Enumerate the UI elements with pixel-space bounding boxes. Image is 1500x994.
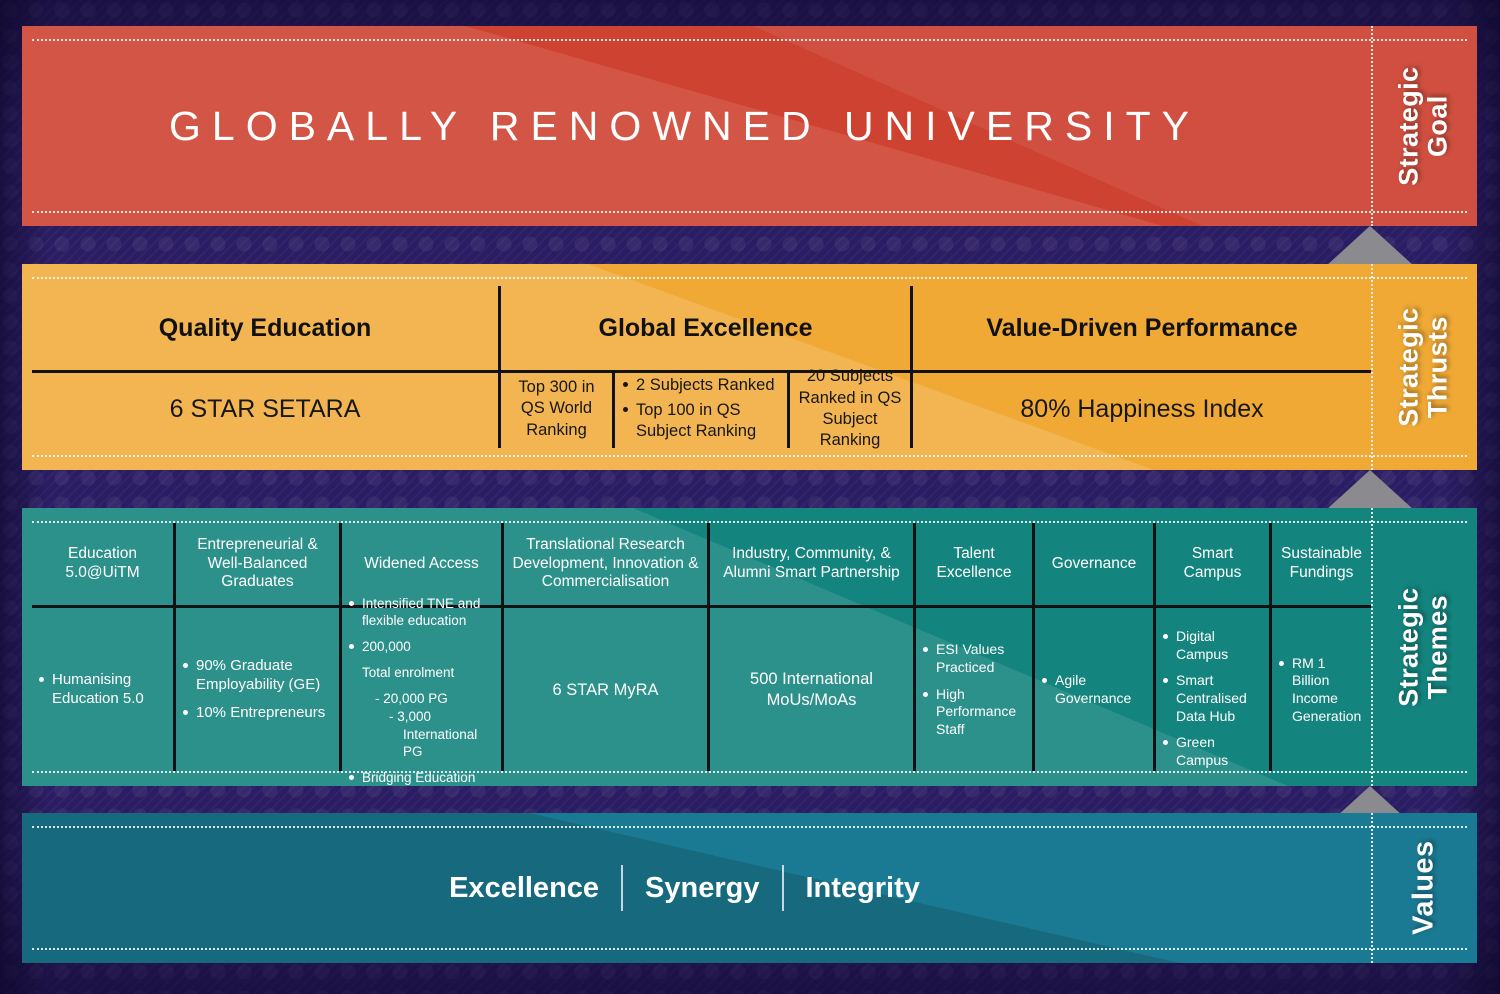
theme-body-widened-access: Intensified TNE and flexible education 2… (342, 605, 501, 771)
theme-item: 90% Graduate Employability (GE) (183, 657, 332, 695)
theme-item: 10% Entrepreneurs (183, 704, 332, 723)
theme-item: Digital Campus (1163, 628, 1262, 663)
theme-item: 200,000 (349, 638, 494, 655)
thrust-kpi-happiness-index: 80% Happiness Index (913, 370, 1371, 448)
thrust-kpi-subjects-ranked: 2 Subjects Ranked Top 100 in QS Subject … (615, 370, 787, 448)
theme-item-list: 90% Graduate Employability (GE) 10% Entr… (183, 648, 332, 732)
goal-side-label: StrategicGoal (1371, 26, 1477, 226)
theme-item-list: Agile Governance (1042, 663, 1146, 716)
thrust-kpi-bullet: Top 100 in QS Subject Ranking (621, 400, 781, 443)
theme-subitem: - 3,000 (349, 708, 494, 725)
theme-header-entrepreneurial: Entrepreneurial & Well-Balanced Graduate… (176, 523, 339, 605)
values-side-label: Values (1371, 813, 1477, 963)
theme-item: Humanising Education 5.0 (39, 671, 166, 709)
thrust-header-global-excellence: Global Excellence (501, 286, 910, 370)
value-item-synergy: Synergy (623, 874, 781, 903)
theme-item: Intensified TNE and flexible education (349, 595, 494, 629)
value-item-integrity: Integrity (784, 874, 942, 903)
theme-header-translational-research: Translational Research Development, Inno… (504, 523, 707, 605)
arrow-themes-to-thrusts (1326, 470, 1414, 510)
theme-body-translational-research: 6 STAR MyRA (504, 605, 707, 771)
theme-item: High Performance Staff (923, 686, 1025, 739)
theme-body-education-50: Humanising Education 5.0 (32, 605, 173, 771)
theme-item: RM 1 Billion Income Generation (1279, 655, 1364, 726)
values-vertical-separator (1371, 813, 1373, 963)
value-item-excellence: Excellence (427, 874, 621, 903)
theme-subitem: International PG (349, 726, 494, 760)
theme-item: Agile Governance (1042, 672, 1146, 707)
thrust-kpi-bullet: 2 Subjects Ranked (621, 375, 781, 396)
theme-item: Bridging Education (349, 769, 494, 786)
strategic-themes-band: Education 5.0@UiTM Humanising Education … (22, 508, 1477, 786)
theme-header-sustainable-fundings: Sustainable Fundings (1272, 523, 1371, 605)
theme-header-smart-campus: Smart Campus (1156, 523, 1269, 605)
thrust-kpi-bullet-list: 2 Subjects Ranked Top 100 in QS Subject … (621, 372, 781, 445)
arrow-thrusts-to-goal (1326, 226, 1414, 266)
thrust-header-value-driven-performance: Value-Driven Performance (913, 286, 1371, 370)
goal-vertical-separator (1371, 26, 1373, 226)
theme-header-talent-excellence: Talent Excellence (916, 523, 1032, 605)
theme-item-list: Intensified TNE and flexible education 2… (349, 586, 494, 787)
theme-item-list: ESI Values Practiced High Performance St… (923, 632, 1025, 747)
thrusts-dashed-bottom (32, 455, 1467, 457)
goal-title: GLOBALLY RENOWNED UNIVERSITY (22, 26, 1347, 226)
strategy-map-canvas: GLOBALLY RENOWNED UNIVERSITY StrategicGo… (0, 0, 1500, 994)
thrusts-grid: Quality Education Global Excellence Valu… (32, 286, 1477, 448)
themes-grid: Education 5.0@UiTM Humanising Education … (32, 523, 1477, 771)
values-list: Excellence Synergy Integrity (22, 813, 1347, 963)
theme-item: Total enrolment (349, 664, 494, 681)
theme-body-smart-campus: Digital Campus Smart Centralised Data Hu… (1156, 605, 1269, 771)
values-side-label-text: Values (1408, 841, 1439, 935)
theme-item: ESI Values Practiced (923, 641, 1025, 676)
strategic-goal-band: GLOBALLY RENOWNED UNIVERSITY StrategicGo… (22, 26, 1477, 226)
theme-body-entrepreneurial: 90% Graduate Employability (GE) 10% Entr… (176, 605, 339, 771)
theme-header-industry-partnership: Industry, Community, & Alumni Smart Part… (710, 523, 913, 605)
theme-body-governance: Agile Governance (1035, 605, 1153, 771)
theme-body-industry-partnership: 500 International MoUs/MoAs (710, 605, 913, 771)
theme-header-governance: Governance (1035, 523, 1153, 605)
goal-side-label-text: StrategicGoal (1395, 66, 1453, 185)
theme-item-list: Digital Campus Smart Centralised Data Hu… (1163, 619, 1262, 778)
theme-item: Smart Centralised Data Hub (1163, 672, 1262, 725)
thrust-header-quality-education: Quality Education (32, 286, 498, 370)
theme-body-sustainable-fundings: RM 1 Billion Income Generation (1272, 605, 1371, 771)
thrusts-dashed-top (32, 277, 1467, 279)
theme-item-list: RM 1 Billion Income Generation (1279, 646, 1364, 735)
theme-subitem: - 20,000 PG (349, 690, 494, 707)
strategic-thrusts-band: Quality Education Global Excellence Valu… (22, 264, 1477, 470)
values-band: Excellence Synergy Integrity Values (22, 813, 1477, 963)
thrust-kpi-qs-world: Top 300 in QS World Ranking (501, 370, 612, 448)
theme-item: Green Campus (1163, 734, 1262, 769)
thrust-kpi-setara: 6 STAR SETARA (32, 370, 498, 448)
theme-body-talent-excellence: ESI Values Practiced High Performance St… (916, 605, 1032, 771)
theme-header-education-50: Education 5.0@UiTM (32, 523, 173, 605)
theme-item-list: Humanising Education 5.0 (39, 662, 166, 718)
thrust-kpi-20-subjects: 20 Subjects Ranked in QS Subject Ranking (790, 370, 910, 448)
